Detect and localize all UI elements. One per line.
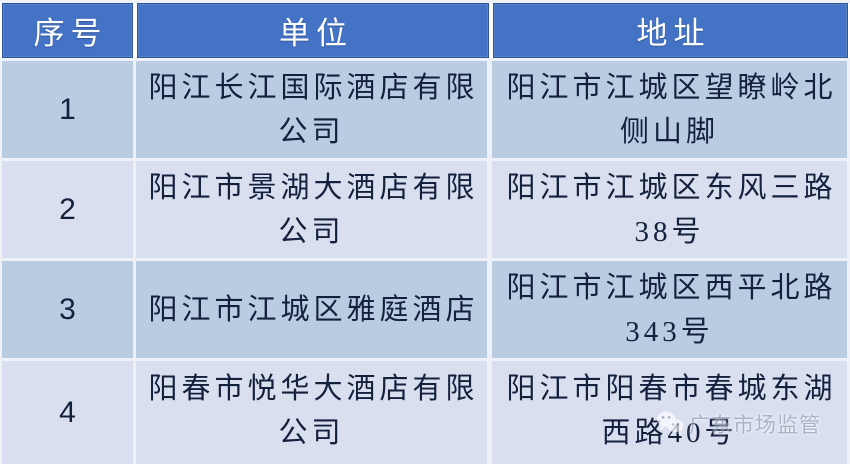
row-unit-cell: 阳江市江城区雅庭酒店 (136, 261, 487, 358)
row-index-cell: 2 (2, 161, 133, 258)
hotel-list-table: 序号 单位 地址 1 阳江长江国际酒店有限公司 阳江市江城区望瞭岭北侧山脚 2 … (0, 0, 850, 464)
table-row: 4 阳春市悦华大酒店有限公司 阳江市阳春市春城东湖西路40号 (0, 361, 850, 464)
row-address-cell: 阳江市江城区东风三路38号 (492, 161, 847, 258)
row-unit-cell: 阳春市悦华大酒店有限公司 (136, 361, 487, 464)
table-row: 3 阳江市江城区雅庭酒店 阳江市江城区西平北路343号 (0, 261, 850, 358)
table-header-row: 序号 单位 地址 (0, 3, 850, 58)
column-header-unit: 单位 (137, 3, 489, 58)
table-row: 2 阳江市景湖大酒店有限公司 阳江市江城区东风三路38号 (0, 161, 850, 258)
table-row: 1 阳江长江国际酒店有限公司 阳江市江城区望瞭岭北侧山脚 (0, 61, 850, 158)
row-address-cell: 阳江市阳春市春城东湖西路40号 (492, 361, 847, 464)
column-header-address: 地址 (493, 3, 848, 58)
row-index-cell: 4 (2, 361, 133, 464)
row-unit-cell: 阳江长江国际酒店有限公司 (136, 61, 487, 158)
row-index-cell: 3 (2, 261, 133, 358)
row-address-cell: 阳江市江城区望瞭岭北侧山脚 (492, 61, 847, 158)
row-index-cell: 1 (2, 61, 133, 158)
row-unit-cell: 阳江市景湖大酒店有限公司 (136, 161, 487, 258)
column-header-index: 序号 (2, 3, 133, 58)
row-address-cell: 阳江市江城区西平北路343号 (492, 261, 847, 358)
